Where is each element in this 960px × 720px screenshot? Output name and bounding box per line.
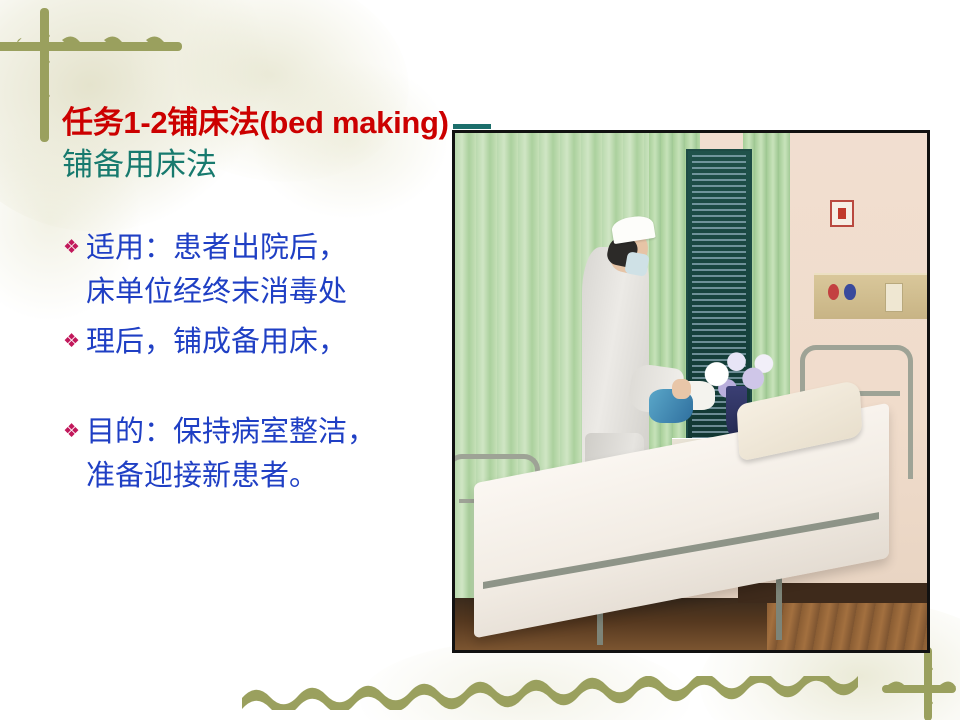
diamond-bullet-icon: ❖ (58, 320, 86, 364)
ward-bed-photo (452, 130, 930, 653)
title-em-dash-icon (453, 124, 491, 129)
suction-outlet-blue (844, 284, 855, 301)
nurse-hand (672, 379, 691, 400)
slide-canvas: 任务1-2铺床法(bed making) 铺备用床法 ❖ 适用：患者出院后， 床… (0, 0, 960, 720)
list-item-text: 适用：患者出院后， 床单位经终末消毒处 (86, 226, 347, 314)
wall-sign-frame (830, 200, 854, 227)
list-item: ❖ 适用：患者出院后， 床单位经终末消毒处 (58, 226, 458, 314)
diamond-bullet-icon: ❖ (58, 410, 86, 454)
ward-bed-photo-content (455, 133, 927, 650)
list-item-line: 准备迎接新患者。 (86, 454, 376, 498)
list-item-line: 适用：患者出院后， (86, 226, 347, 270)
bamboo-wave-divider-icon (238, 676, 918, 710)
ward-baseboard (738, 583, 927, 604)
ward-floor-wood (767, 598, 927, 650)
list-item-line: 理后，铺成备用床， (86, 320, 347, 364)
bamboo-ornament-bottom-right-icon (880, 645, 958, 720)
nurse-face-mask (624, 251, 649, 276)
diamond-bullet-icon: ❖ (58, 226, 86, 270)
list-item-text: 理后，铺成备用床， (86, 320, 347, 364)
slide-title: 任务1-2铺床法(bed making) 铺备用床法 (62, 104, 702, 186)
title-line-secondary: 铺备用床法 (62, 144, 702, 186)
wall-socket-box (885, 283, 903, 312)
list-item-line: 床单位经终末消毒处 (86, 270, 347, 314)
list-item-line: 目的：保持病室整洁， (86, 410, 376, 454)
list-item-text: 目的：保持病室整洁， 准备迎接新患者。 (86, 410, 376, 498)
list-item: ❖ 目的：保持病室整洁， 准备迎接新患者。 (58, 410, 458, 498)
list-item: ❖ 理后，铺成备用床， (58, 320, 458, 364)
bullet-list: ❖ 适用：患者出院后， 床单位经终末消毒处 ❖ 理后，铺成备用床， ❖ 目的：保… (58, 226, 458, 504)
title-line-primary: 任务1-2铺床法(bed making) (62, 104, 702, 142)
title-line-primary-text: 任务1-2铺床法(bed making) (62, 105, 449, 140)
